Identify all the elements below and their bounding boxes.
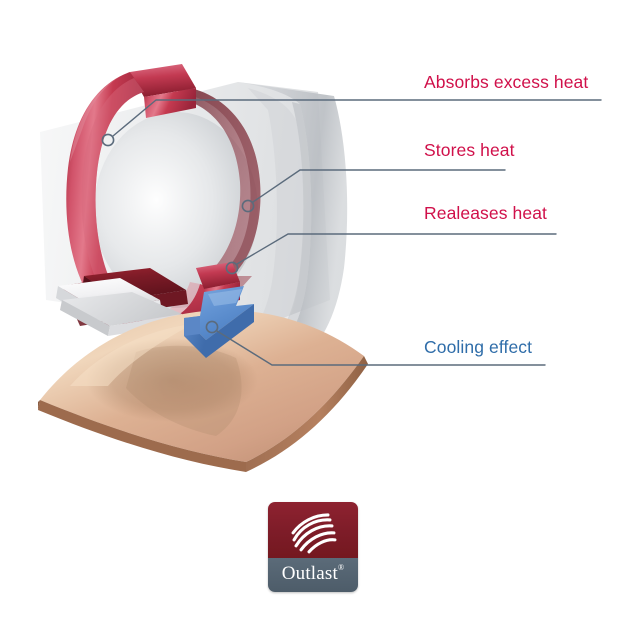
logo-wordmark: Outlast® <box>282 563 345 585</box>
callout-label-stores-heat: Stores heat <box>424 142 515 160</box>
logo-bottom-panel: Outlast® <box>268 558 358 592</box>
logo-registered-mark: ® <box>338 563 344 572</box>
callout-label-cooling-effect: Cooling effect <box>424 339 532 357</box>
callout-label-releases-heat: Realeases heat <box>424 205 547 223</box>
outlast-logo: Outlast® <box>268 502 358 592</box>
callout-label-absorbs-excess-heat: Absorbs excess heat <box>424 74 588 92</box>
diagram-canvas: Absorbs excess heat Stores heat Realease… <box>0 0 625 625</box>
logo-wordmark-text: Outlast <box>282 563 338 584</box>
logo-swoosh-icon <box>268 502 358 558</box>
